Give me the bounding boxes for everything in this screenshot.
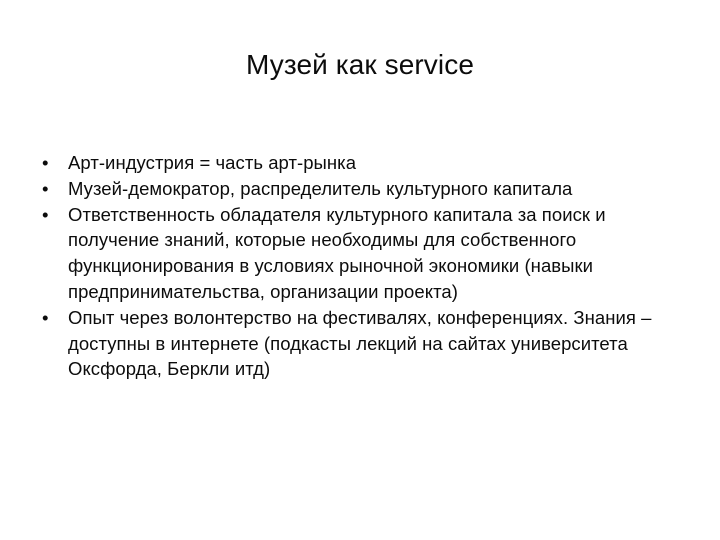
page-title: Музей как service [0, 48, 720, 82]
bullet-dot-icon: • [42, 202, 56, 228]
bullet-list: • Арт-индустрия = часть арт-рынка • Музе… [34, 150, 694, 382]
list-item-label: Музей-демократор, распределитель культур… [68, 176, 694, 202]
list-item: • Музей-демократор, распределитель культ… [34, 176, 694, 202]
list-item-label: Арт-индустрия = часть арт-рынка [68, 150, 694, 176]
bullet-dot-icon: • [42, 150, 56, 176]
list-item: • Опыт через волонтерство на фестивалях,… [34, 305, 694, 382]
presentation-slide: Музей как service • Арт-индустрия = част… [0, 0, 720, 540]
bullet-dot-icon: • [42, 305, 56, 331]
list-item: • Ответственность обладателя культурного… [34, 202, 694, 305]
list-item-label: Опыт через волонтерство на фестивалях, к… [68, 305, 694, 382]
list-item: • Арт-индустрия = часть арт-рынка [34, 150, 694, 176]
list-item-label: Ответственность обладателя культурного к… [68, 202, 694, 305]
bullet-dot-icon: • [42, 176, 56, 202]
slide-content-body: • Арт-индустрия = часть арт-рынка • Музе… [34, 150, 694, 382]
